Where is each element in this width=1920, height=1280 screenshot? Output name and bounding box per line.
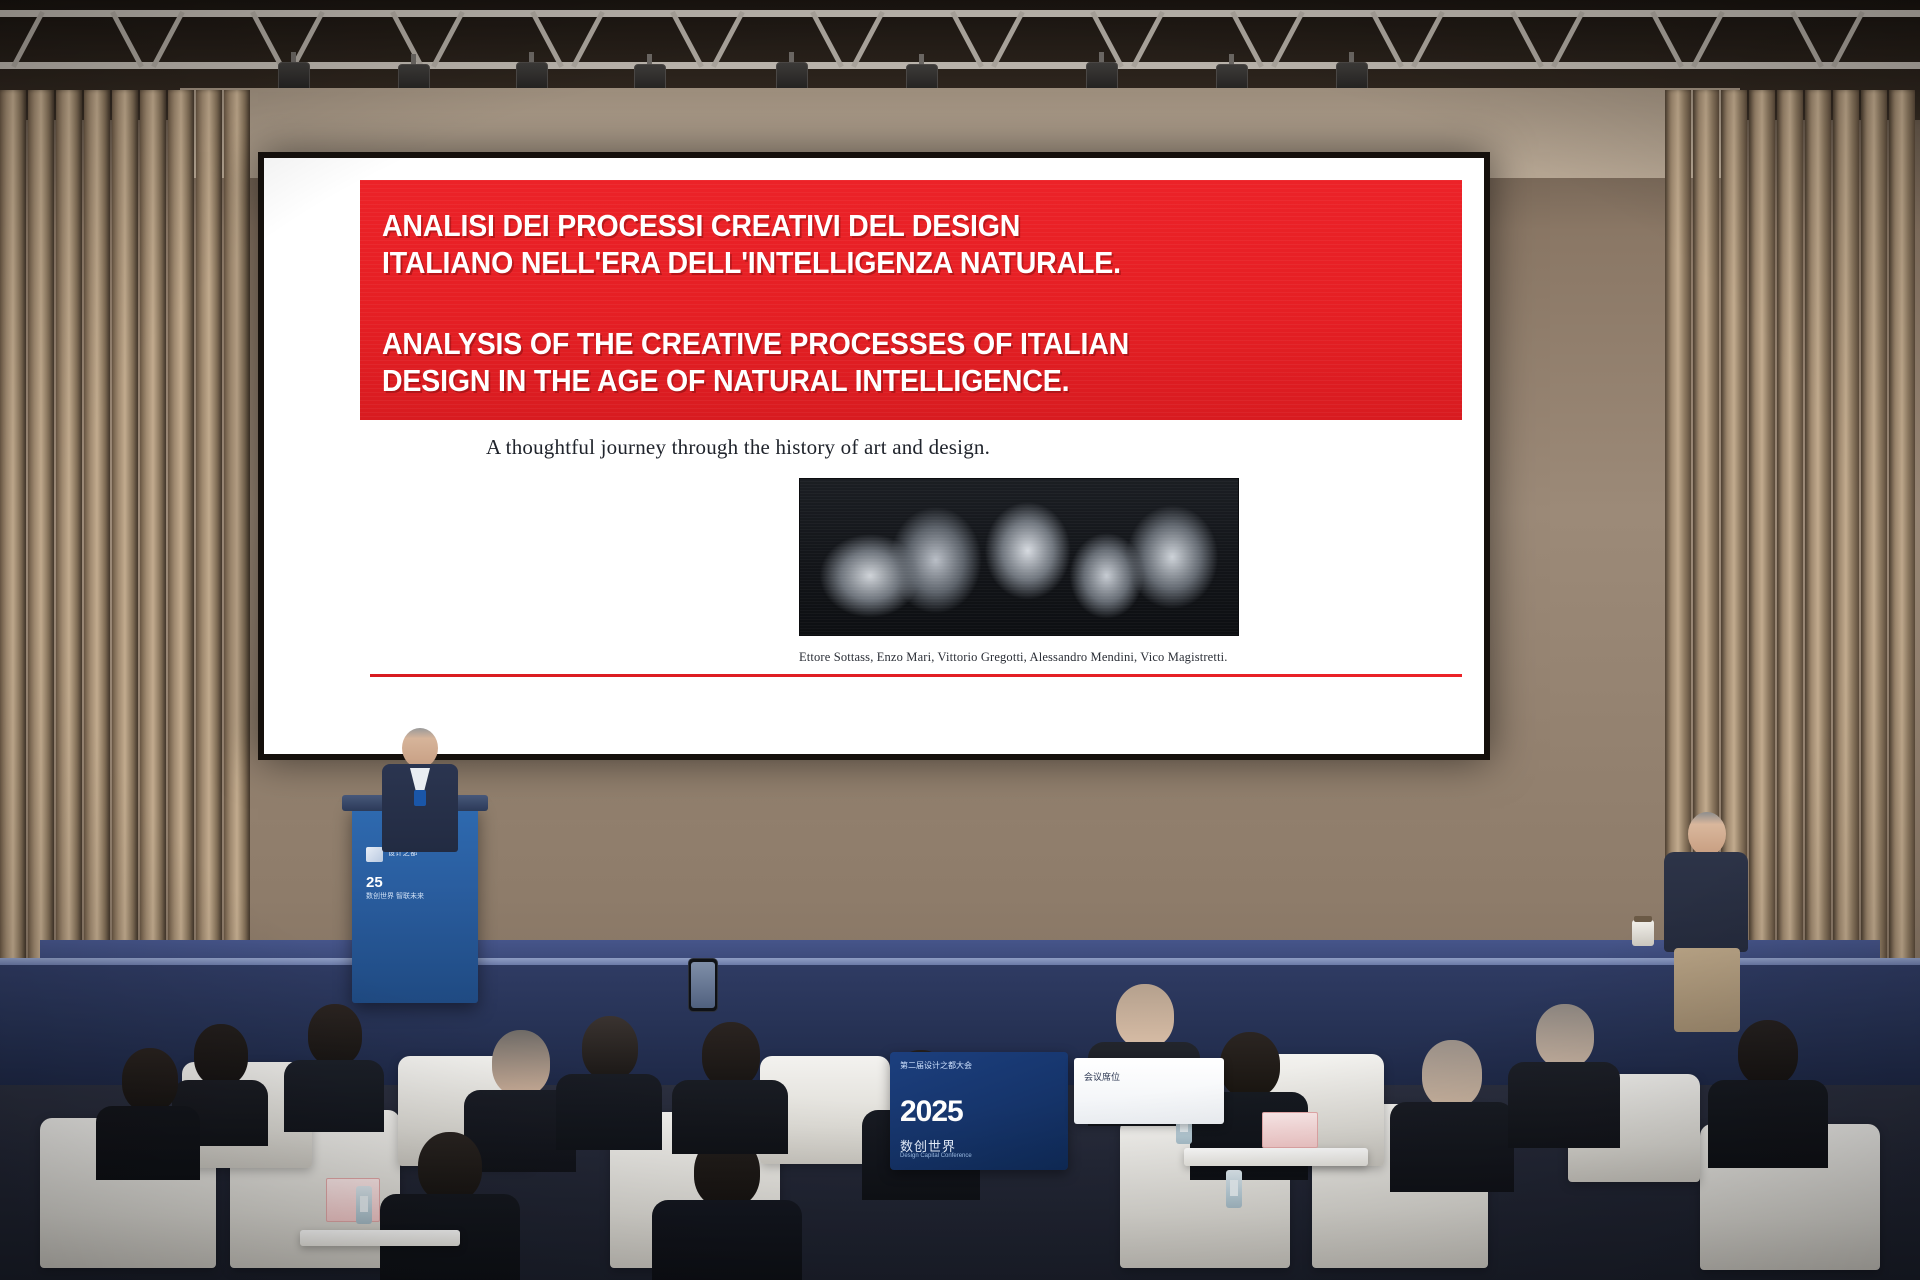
- audience-head: [194, 1024, 248, 1086]
- audience-shoulders: [652, 1200, 802, 1280]
- audience-head: [492, 1030, 550, 1096]
- slide-title-english: ANALYSIS OF THE CREATIVE PROCESSES OF IT…: [382, 326, 1129, 399]
- slide-divider-rule: [370, 674, 1462, 677]
- truss-diagonal: [670, 11, 704, 68]
- podium-badge-sub: 数创世界 智联未来: [366, 891, 424, 901]
- truss-diagonal: [1411, 11, 1445, 68]
- truss-diagonal: [1230, 11, 1264, 68]
- table-sign-year: 2025: [900, 1098, 963, 1125]
- audience-member: [652, 1136, 802, 1280]
- audience-head: [1738, 1020, 1798, 1086]
- truss-diagonal: [571, 11, 605, 68]
- photo-grain: [800, 479, 1238, 635]
- truss-diagonal: [1650, 11, 1684, 68]
- audience-member: [284, 1004, 384, 1130]
- smartphone-icon: [688, 958, 718, 1012]
- audience-head: [122, 1048, 178, 1112]
- truss-diagonal: [1510, 11, 1544, 68]
- truss-diagonal: [291, 11, 325, 68]
- audience-shoulders: [672, 1080, 788, 1154]
- truss-diagonal: [810, 11, 844, 68]
- secondary-table-sign: 会议席位: [1074, 1058, 1224, 1124]
- table-sign-english: Design Capital Conference: [900, 1153, 972, 1159]
- water-bottle: [1226, 1170, 1242, 1208]
- speaker-at-podium: [374, 728, 466, 848]
- slide-title-italian: ANALISI DEI PROCESSI CREATIVI DEL DESIGN…: [382, 208, 1121, 281]
- conference-table-sign: 第二届设计之都大会 2025 数创世界 Design Capital Confe…: [890, 1052, 1068, 1170]
- table-place-card: [1262, 1112, 1318, 1148]
- truss-bar-top: [0, 10, 1920, 17]
- phone-screen: [691, 962, 715, 1008]
- truss-diagonal: [1090, 11, 1124, 68]
- truss-diagonal: [1551, 11, 1585, 68]
- audience-member: [556, 1016, 662, 1148]
- water-bottle: [356, 1186, 372, 1224]
- truss-diagonal: [991, 11, 1025, 68]
- truss-diagonal: [1131, 11, 1165, 68]
- truss-diagonal: [1691, 11, 1725, 68]
- screen-surface: ANALISI DEI PROCESSI CREATIVI DEL DESIGN…: [264, 158, 1484, 754]
- audience-head: [1422, 1040, 1482, 1108]
- truss-diagonal: [950, 11, 984, 68]
- audience-member: [1708, 1020, 1828, 1166]
- auditorium-scene: ANALISI DEI PROCESSI CREATIVI DEL DESIGN…: [0, 0, 1920, 1280]
- speaker-badge: [414, 790, 426, 806]
- audience-head: [1116, 984, 1174, 1048]
- audience-head: [1536, 1004, 1594, 1068]
- audience-shoulders: [1708, 1080, 1828, 1168]
- lighting-truss: [0, 0, 1920, 100]
- truss-diagonal: [1831, 11, 1865, 68]
- truss-diagonal: [530, 11, 564, 68]
- slide-subtitle: A thoughtful journey through the history…: [486, 435, 990, 460]
- truss-diagonal: [1790, 11, 1824, 68]
- audience-shoulders: [556, 1074, 662, 1150]
- table-sign-top-line: 第二届设计之都大会: [900, 1060, 972, 1071]
- speaker-head: [402, 728, 438, 768]
- audience-shoulders: [1390, 1102, 1514, 1192]
- truss-diagonal: [1370, 11, 1404, 68]
- audience-head: [418, 1132, 482, 1202]
- audience-shoulders: [96, 1106, 200, 1180]
- audience-member-filming: [672, 1000, 788, 1150]
- audience-head: [1220, 1032, 1280, 1098]
- audience-member: [1508, 1004, 1620, 1146]
- presentation-slide: ANALISI DEI PROCESSI CREATIVI DEL DESIGN…: [264, 158, 1484, 754]
- audience-table: [300, 1230, 460, 1246]
- audience-member: [380, 1132, 520, 1280]
- coffee-cup-icon: [1632, 920, 1654, 946]
- podium-badge-number: 25: [366, 875, 383, 890]
- audience-shoulders: [1508, 1062, 1620, 1148]
- truss-diagonal: [711, 11, 745, 68]
- photo-caption: Ettore Sottass, Enzo Mari, Vittorio Greg…: [799, 650, 1228, 665]
- truss-diagonal: [851, 11, 885, 68]
- audience-member: [96, 1048, 200, 1178]
- designers-photo: [799, 478, 1239, 636]
- walking-attendee: [1648, 812, 1764, 1030]
- audience-table: [1184, 1148, 1368, 1166]
- audience-head: [702, 1022, 760, 1088]
- truss-diagonal: [250, 11, 284, 68]
- truss-diagonal: [1271, 11, 1305, 68]
- audience-head: [582, 1016, 638, 1080]
- truss-diagonal: [431, 11, 465, 68]
- attendee-torso: [1664, 852, 1748, 952]
- audience-shoulders: [284, 1060, 384, 1132]
- attendee-head: [1688, 812, 1726, 856]
- podium-badge: 25 数创世界 智联未来: [366, 875, 462, 901]
- truss-diagonal: [110, 11, 144, 68]
- truss-diagonal: [390, 11, 424, 68]
- truss-diagonal: [151, 11, 185, 68]
- secondary-sign-text: 会议席位: [1084, 1070, 1120, 1083]
- logo-mark-icon: [366, 847, 383, 862]
- truss-diagonal: [11, 11, 45, 68]
- audience-head: [308, 1004, 362, 1066]
- projection-screen: ANALISI DEI PROCESSI CREATIVI DEL DESIGN…: [258, 152, 1490, 760]
- audience-member: [1390, 1040, 1514, 1190]
